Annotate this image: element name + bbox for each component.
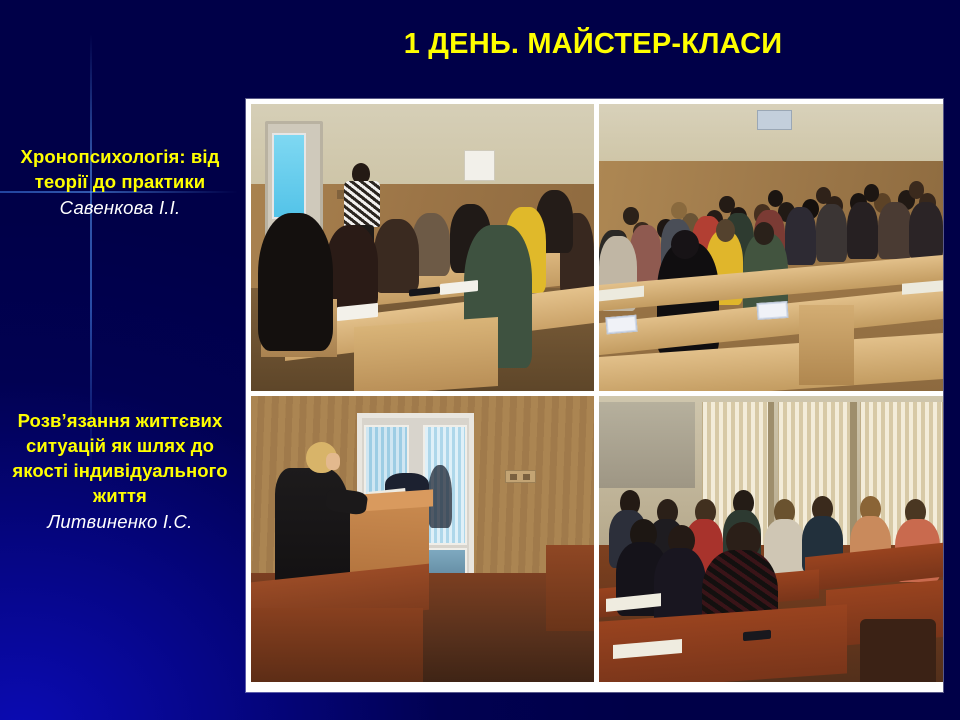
side-desk <box>546 545 594 631</box>
student-figure <box>326 225 377 311</box>
student-head <box>716 219 735 242</box>
front-table-lower <box>251 608 423 682</box>
presenter-torso <box>344 181 380 227</box>
photo-collage <box>246 99 943 692</box>
topics-column: Хронопсихологія: від теорії до практики … <box>0 0 240 720</box>
student-figure-foreground <box>258 213 333 351</box>
student-torso <box>847 202 878 259</box>
photo-bottom-right <box>599 396 943 682</box>
photo-top-right <box>599 104 943 391</box>
desk-row-front <box>354 317 498 391</box>
student-head <box>623 207 638 224</box>
topic-block-1: Хронопсихологія: від теорії до практики … <box>0 144 240 221</box>
photo-bottom-left <box>251 396 594 682</box>
presenter-face <box>326 453 340 470</box>
student-torso <box>816 204 847 261</box>
topic-presenter-2: Литвиненко І.С. <box>6 509 234 535</box>
student-head <box>909 181 924 198</box>
desk-sign <box>757 301 789 320</box>
wall-notice <box>464 150 495 182</box>
topic-presenter-1: Савенкова І.І. <box>6 195 234 221</box>
photo-top-left <box>251 104 594 391</box>
student-head <box>671 230 699 259</box>
desk-sign <box>605 315 637 335</box>
student-head <box>864 184 879 201</box>
student-head <box>671 202 686 219</box>
page-title: 1 ДЕНЬ. МАЙСТЕР-КЛАСИ <box>248 28 938 61</box>
topic-heading-2: Розв’язання життєвих ситуацій як шлях до… <box>6 408 234 508</box>
topic-heading-1: Хронопсихологія: від теорії до практики <box>6 144 234 194</box>
student-torso <box>878 202 912 259</box>
wall-panel-left <box>599 402 695 488</box>
student-torso <box>909 202 943 259</box>
student-head <box>719 196 734 213</box>
topic-block-2: Розв’язання життєвих ситуацій як шлях до… <box>0 408 240 535</box>
chair <box>860 619 936 682</box>
door-glass-pane <box>272 133 306 219</box>
student-head <box>754 222 775 245</box>
student-figure <box>374 219 419 294</box>
wall-sockets <box>505 470 536 483</box>
phone-on-desk <box>743 629 771 641</box>
bench-side-panel <box>799 305 854 385</box>
student-torso <box>785 207 816 264</box>
slide-canvas: 1 ДЕНЬ. МАЙСТЕР-КЛАСИ Хронопсихологія: в… <box>0 0 960 720</box>
